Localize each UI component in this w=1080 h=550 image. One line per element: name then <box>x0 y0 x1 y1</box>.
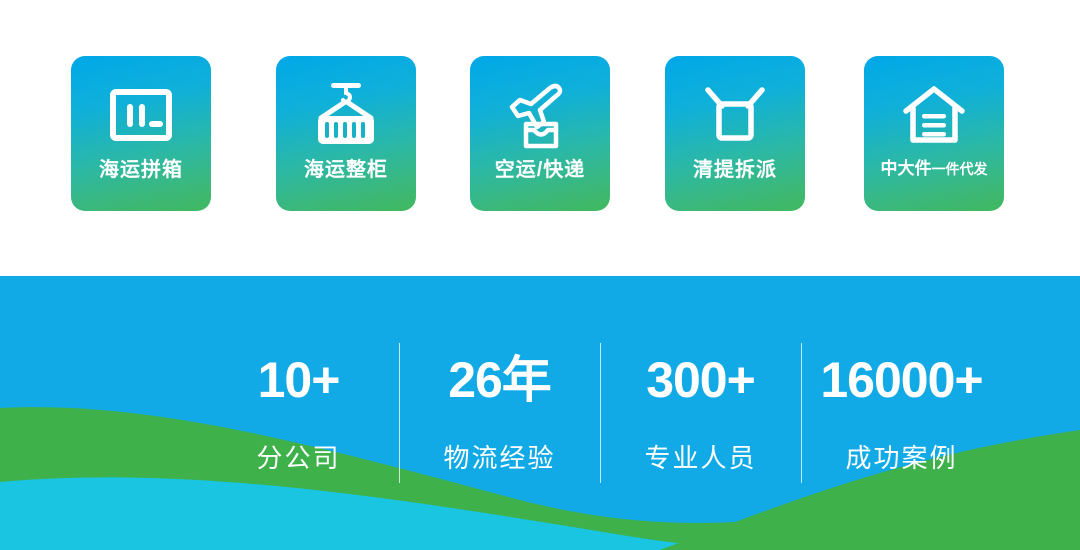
service-card-label: 海运拼箱 <box>99 160 183 180</box>
service-card-label: 空运/快递 <box>495 160 586 180</box>
stat-item: 300+ 专业人员 <box>601 355 801 471</box>
service-card-label: 清提拆派 <box>693 160 777 180</box>
stats-band: 10+ 分公司 26年 物流经验 300+ 专业人员 16000+ 成功案例 <box>0 276 1080 550</box>
stat-label: 分公司 <box>199 445 399 471</box>
stat-value: 16000+ <box>802 355 1002 405</box>
service-card-label-main: 海运整柜 <box>304 160 388 180</box>
stat-value: 10+ <box>199 355 399 405</box>
service-card-clearance[interactable]: 清提拆派 <box>665 56 805 211</box>
service-card-label-main: 清提拆派 <box>693 160 777 180</box>
container-lcl-icon <box>109 76 173 154</box>
service-card-label-main: 空运/快递 <box>495 160 586 180</box>
warehouse-icon <box>901 76 967 154</box>
service-card-label: 中大件一件代发 <box>881 160 988 177</box>
service-card-label: 海运整柜 <box>304 160 388 180</box>
stat-value: 300+ <box>601 355 801 405</box>
service-card-label-main: 中大件 <box>881 160 932 177</box>
stat-item: 10+ 分公司 <box>199 355 399 471</box>
stats-row: 10+ 分公司 26年 物流经验 300+ 专业人员 16000+ 成功案例 <box>0 276 1080 550</box>
stat-value: 26年 <box>400 355 600 405</box>
stat-label: 成功案例 <box>802 445 1002 471</box>
open-box-icon <box>702 76 768 154</box>
service-cards-section: 海运拼箱 海运整柜 <box>0 0 1080 276</box>
airplane-parcel-icon <box>504 76 576 154</box>
service-card-fcl[interactable]: 海运整柜 <box>276 56 416 211</box>
service-card-air-express[interactable]: 空运/快递 <box>470 56 610 211</box>
stat-label: 物流经验 <box>400 445 600 471</box>
service-card-lcl[interactable]: 海运拼箱 <box>71 56 211 211</box>
service-card-label-main: 海运拼箱 <box>99 160 183 180</box>
stat-item: 26年 物流经验 <box>400 355 600 471</box>
stat-label: 专业人员 <box>601 445 801 471</box>
service-card-bulky-dropship[interactable]: 中大件一件代发 <box>864 56 1004 211</box>
container-hoist-icon <box>311 76 381 154</box>
service-card-label-sub: 一件代发 <box>932 162 988 176</box>
stat-item: 16000+ 成功案例 <box>802 355 1002 471</box>
